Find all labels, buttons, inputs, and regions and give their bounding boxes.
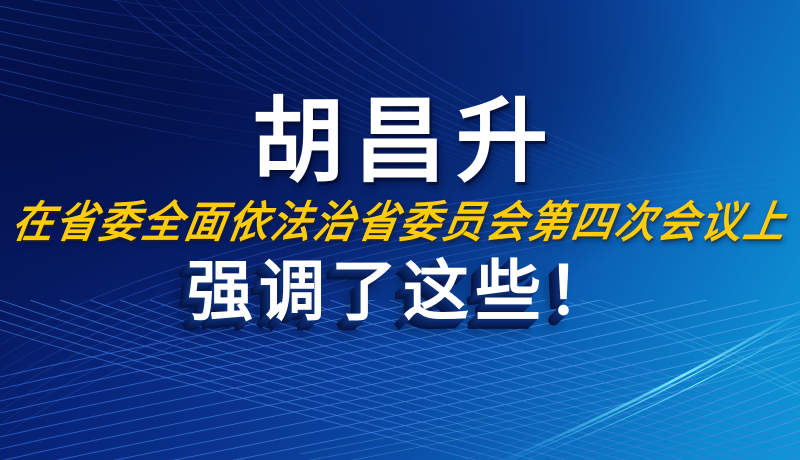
headline-name: 胡昌升 bbox=[242, 96, 558, 188]
headline-block: 胡昌升 在省委全面依法治省委员会第四次会议上 强调了这些！ bbox=[0, 0, 800, 460]
headline-emphasis: 强调了这些！ bbox=[181, 259, 619, 325]
headline-occasion: 在省委全面依法治省委员会第四次会议上 bbox=[10, 201, 791, 244]
banner-canvas: 胡昌升 在省委全面依法治省委员会第四次会议上 强调了这些！ bbox=[0, 0, 800, 460]
